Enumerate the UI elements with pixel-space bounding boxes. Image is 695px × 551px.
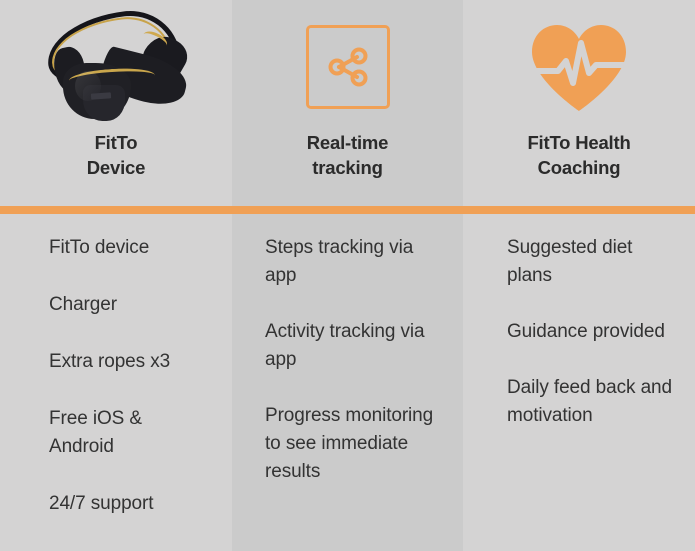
column-title-tracking-line2: tracking [307,155,388,180]
list-item: Extra ropes x3 [49,348,210,376]
list-item: Progress monitoring to see immediate res… [265,402,449,486]
list-item: Free iOS & Android [49,405,210,461]
list-item: Daily feed back and motivation [507,374,679,430]
feature-column-device: FitTo Device FitTo device Charger Extra … [0,0,232,551]
feature-column-tracking: Real-time tracking Steps tracking via ap… [232,0,463,551]
share-glyph [323,42,373,92]
column-title-device: FitTo Device [87,130,145,180]
column-header-tracking: Real-time tracking [232,0,463,206]
column-title-device-line2: Device [87,155,145,180]
list-item: Guidance provided [507,318,679,346]
list-item: Steps tracking via app [265,234,449,290]
device-illustration [41,11,191,123]
column-header-coaching: FitTo Health Coaching [463,0,695,206]
list-item: Suggested diet plans [507,234,679,290]
orange-divider-band [0,206,695,214]
list-item: FitTo device [49,234,210,262]
column-title-tracking-line1: Real-time [307,132,388,153]
share-icon-container [232,0,463,130]
feature-list-coaching: Suggested diet plans Guidance provided D… [463,206,695,551]
feature-list-tracking: Steps tracking via app Activity tracking… [232,206,463,551]
column-title-coaching-line2: Coaching [527,155,630,180]
fitto-neck-device-photo [0,0,232,130]
column-title-coaching-line1: FitTo Health [527,132,630,153]
column-header-device: FitTo Device [0,0,232,206]
feature-list-device: FitTo device Charger Extra ropes x3 Free… [0,206,232,551]
column-title-device-line1: FitTo [95,132,138,153]
share-network-icon [306,25,390,109]
list-item: 24/7 support [49,490,210,518]
feature-column-coaching: FitTo Health Coaching Suggested diet pla… [463,0,695,551]
heart-pulse-icon [526,21,632,113]
heart-icon-container [463,0,695,130]
heart-pulse-glyph [526,21,632,113]
list-item: Charger [49,291,210,319]
column-title-tracking: Real-time tracking [307,130,388,180]
list-item: Activity tracking via app [265,318,449,374]
feature-comparison-board: FitTo Device FitTo device Charger Extra … [0,0,695,551]
column-title-coaching: FitTo Health Coaching [527,130,630,180]
